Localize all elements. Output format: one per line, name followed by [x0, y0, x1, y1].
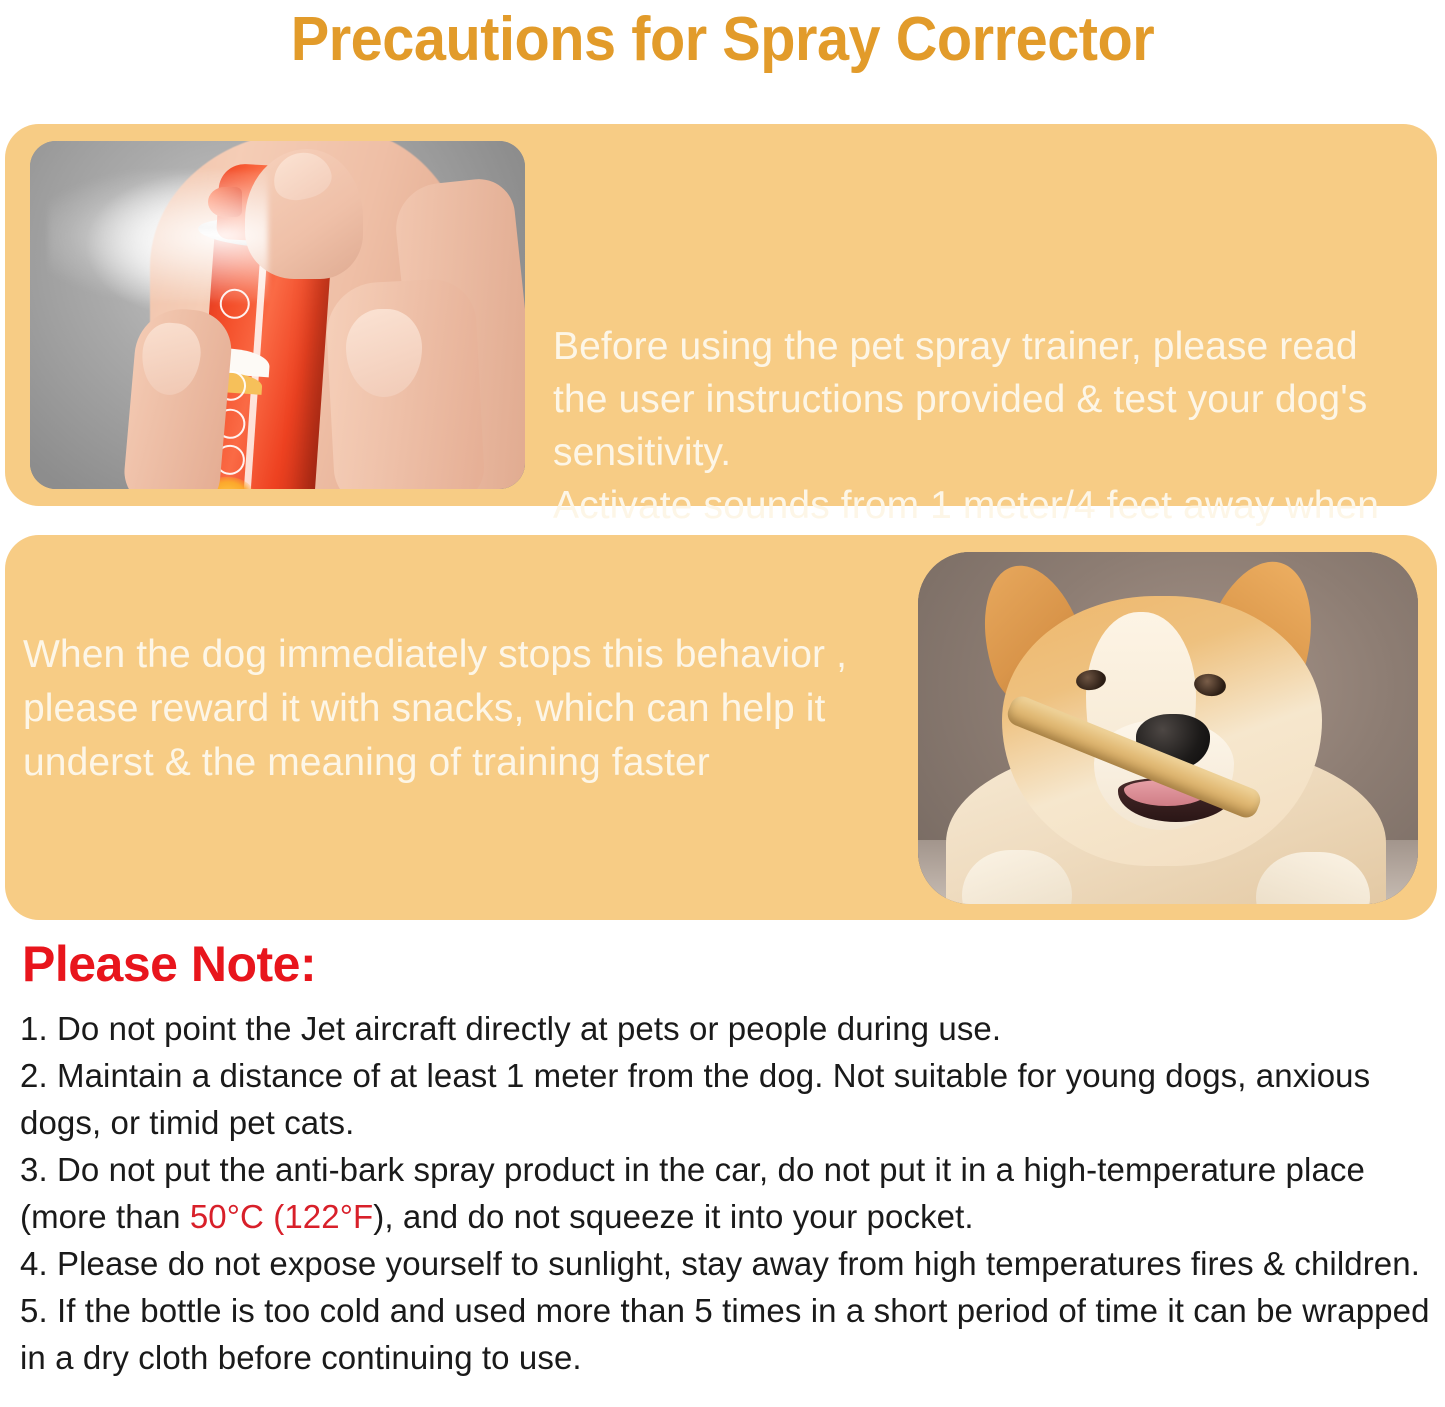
- note-highlight-temperature: 50°C (122°F: [190, 1198, 373, 1235]
- note-item: 5. If the bottle is too cold and used mo…: [20, 1287, 1430, 1381]
- spray-can-photo: [30, 141, 525, 489]
- corgi-dog-photo: [918, 552, 1418, 904]
- note-text: 2. Maintain a distance of at least 1 met…: [20, 1057, 1370, 1141]
- please-note-heading: Please Note:: [22, 935, 316, 993]
- note-text: 5. If the bottle is too cold and used mo…: [20, 1292, 1430, 1376]
- note-text: 1. Do not point the Jet aircraft directl…: [20, 1010, 1001, 1047]
- note-text-tail: ), and do not squeeze it into your pocke…: [373, 1198, 973, 1235]
- spray-mist: [48, 171, 268, 301]
- note-item: 4. Please do not expose yourself to sunl…: [20, 1240, 1430, 1287]
- note-text: 4. Please do not expose yourself to sunl…: [20, 1245, 1420, 1282]
- note-item: 2. Maintain a distance of at least 1 met…: [20, 1052, 1430, 1146]
- note-item: 1. Do not point the Jet aircraft directl…: [20, 1005, 1430, 1052]
- notes-list: 1. Do not point the Jet aircraft directl…: [20, 1005, 1430, 1381]
- precaution-panel-1: Before using the pet spray trainer, plea…: [5, 124, 1437, 506]
- note-item: 3. Do not put the anti-bark spray produc…: [20, 1146, 1430, 1240]
- page-title: Precautions for Spray Corrector: [51, 4, 1395, 75]
- panel-2-text: When the dog immediately stops this beha…: [23, 628, 883, 790]
